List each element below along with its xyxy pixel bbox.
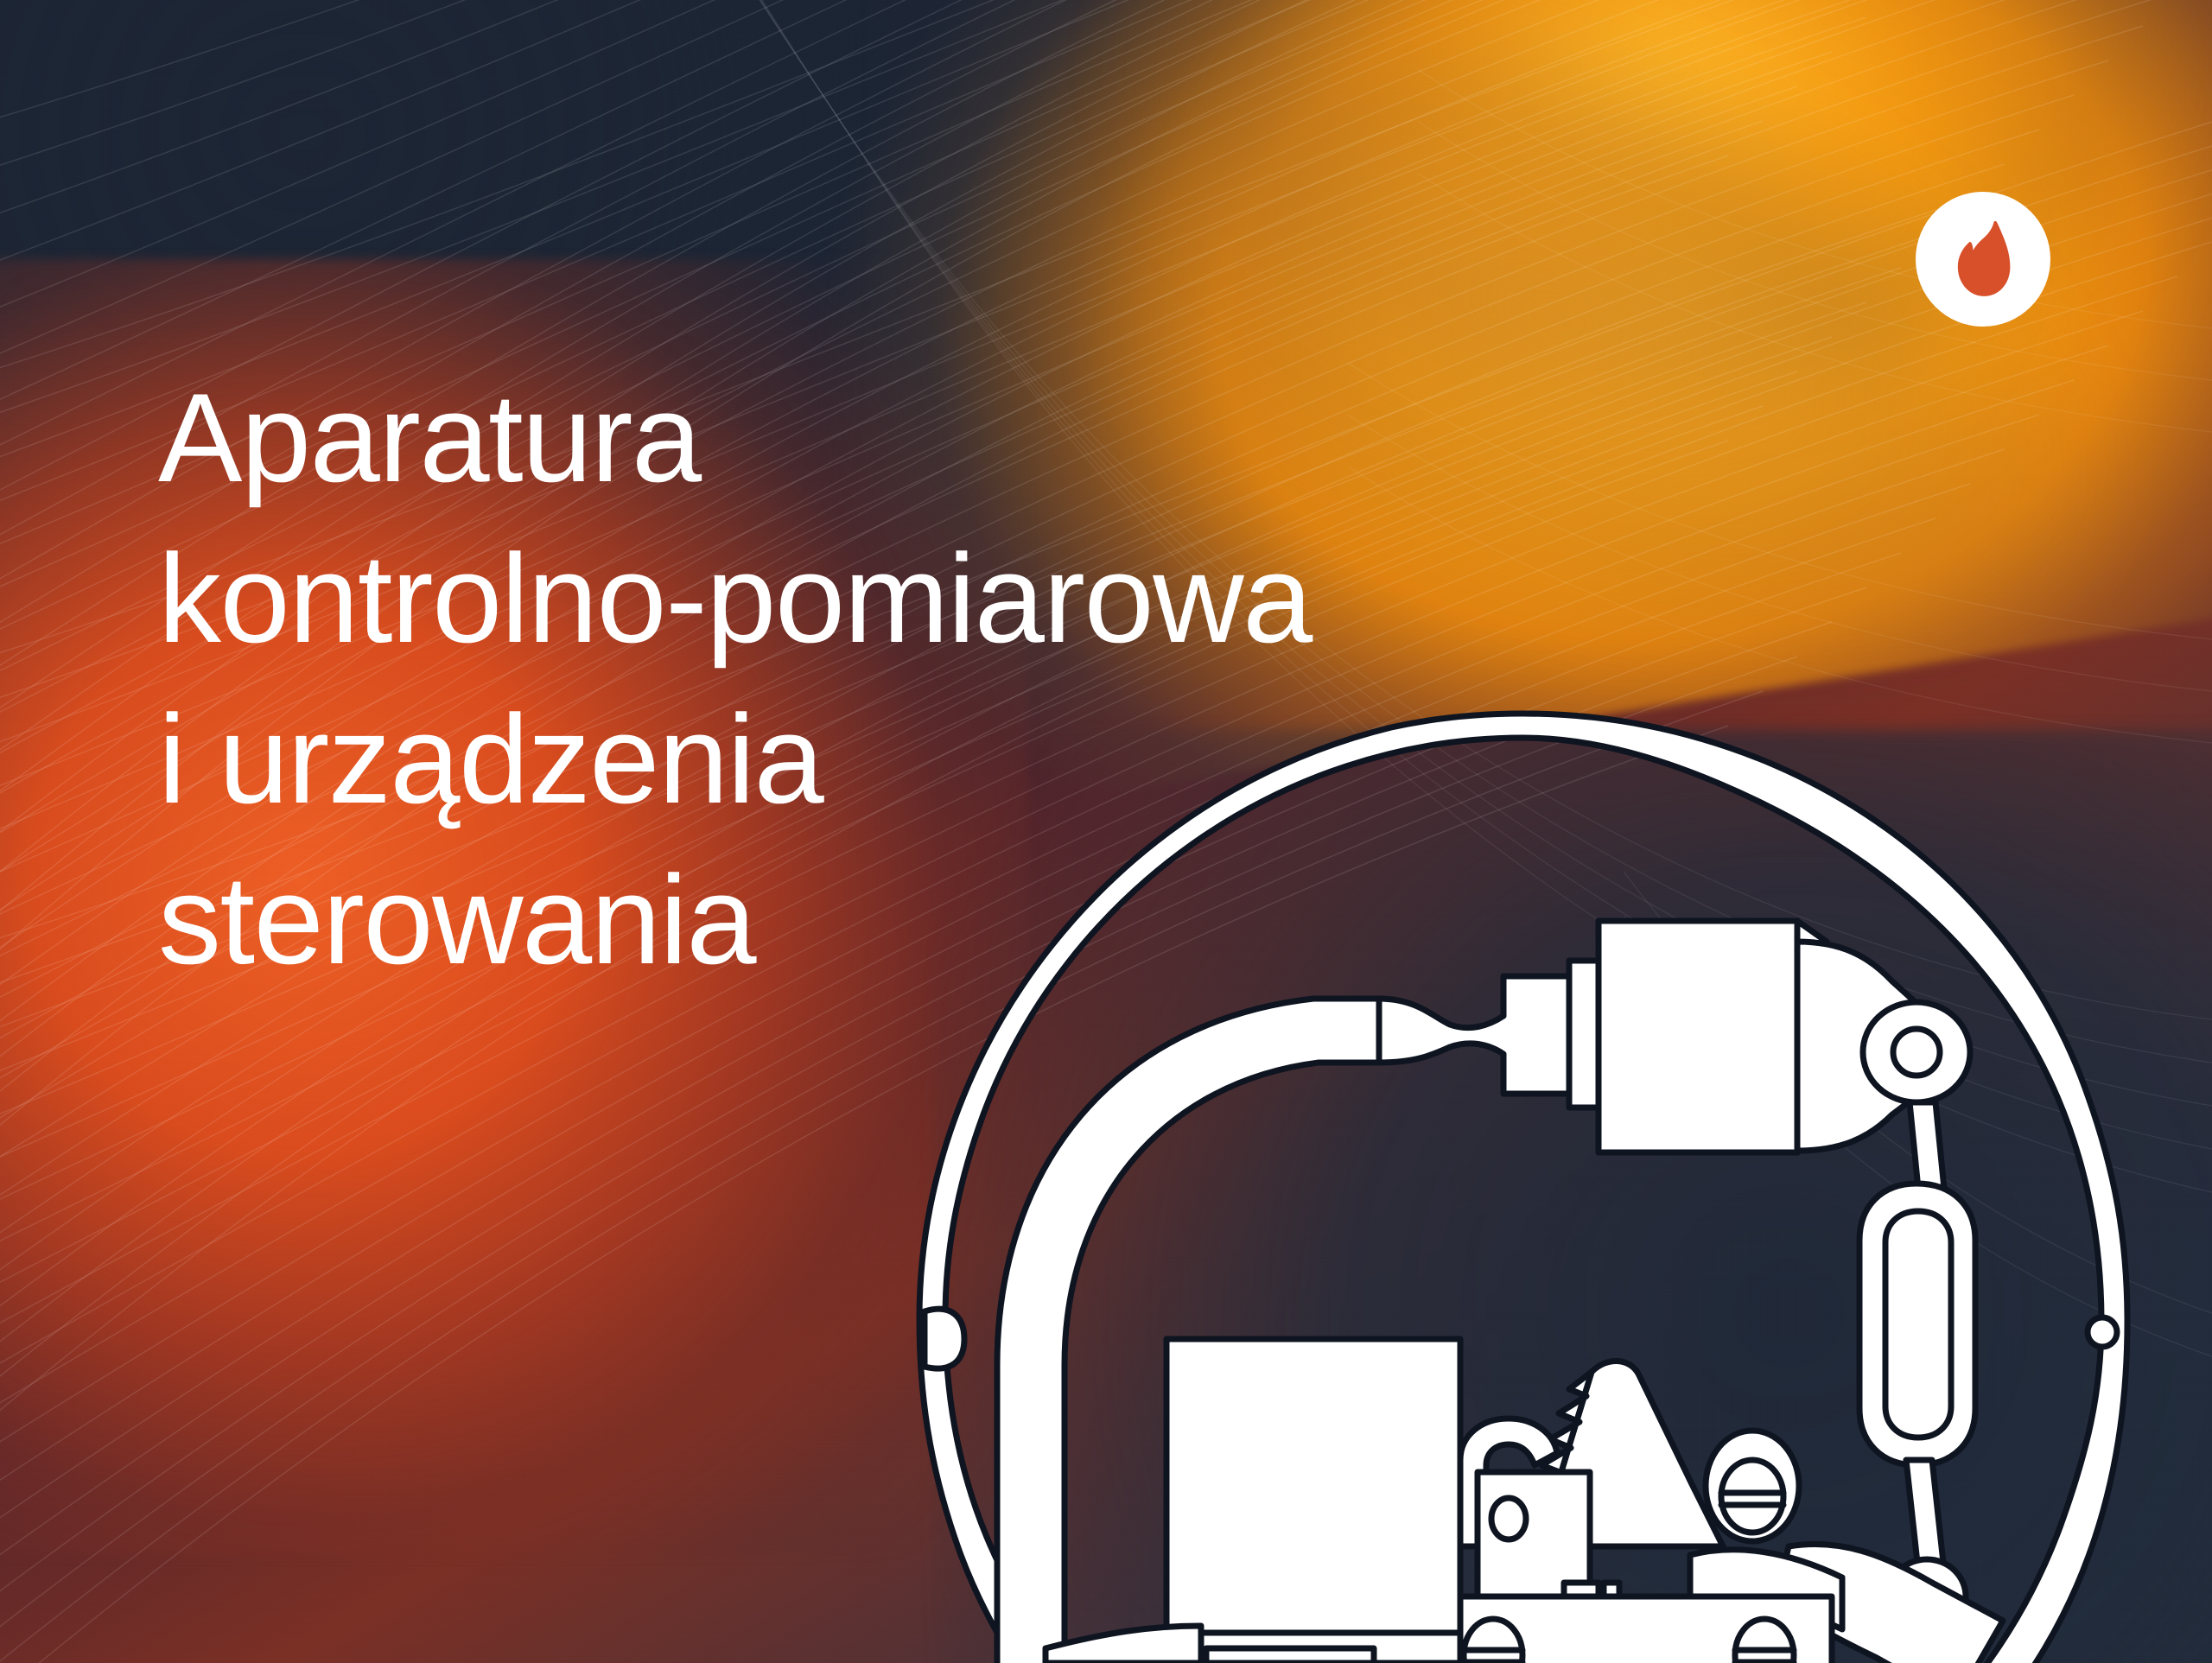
flame-icon bbox=[1946, 219, 2020, 299]
cover-banner: Aparatura kontrolno-pomiarowa i urządzen… bbox=[0, 0, 2212, 1663]
page-title: Aparatura kontrolno-pomiarowa i urządzen… bbox=[158, 358, 1558, 1000]
robot-column-base bbox=[907, 1546, 2212, 1663]
brand-logo-badge[interactable] bbox=[1916, 192, 2050, 327]
